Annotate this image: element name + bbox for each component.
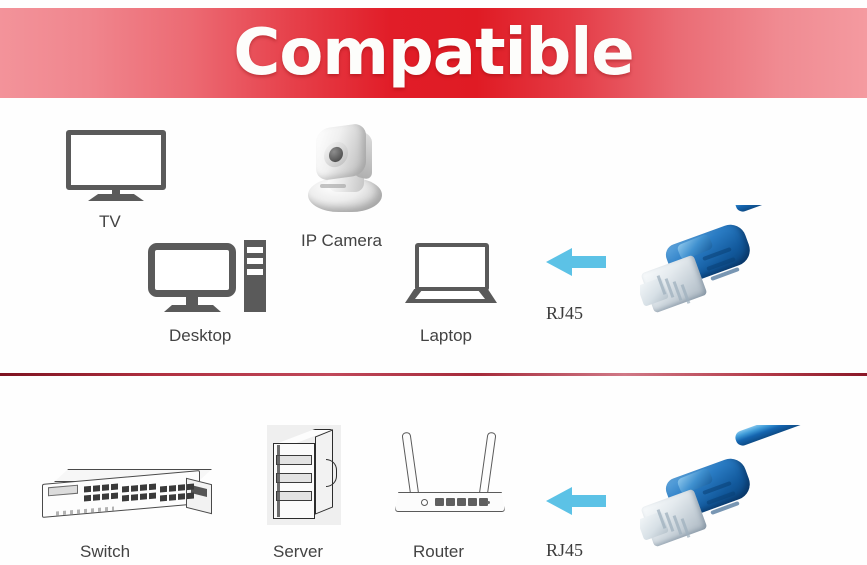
desktop-drive-bay bbox=[247, 258, 263, 264]
tv-screen bbox=[66, 130, 166, 190]
page-title: Compatible bbox=[0, 8, 867, 98]
rj45-cable-bottom bbox=[640, 425, 867, 565]
camera-base-slot bbox=[320, 184, 346, 188]
cable-wire bbox=[733, 205, 867, 214]
arrow-shaft bbox=[568, 495, 606, 507]
desktop-monitor bbox=[148, 243, 236, 297]
server-shelf bbox=[276, 473, 312, 483]
cable-wire bbox=[733, 425, 867, 448]
router-port bbox=[446, 498, 455, 506]
section-divider bbox=[0, 373, 867, 376]
switch-port-group bbox=[122, 484, 156, 503]
server-shelf bbox=[276, 455, 312, 465]
router-antenna-right bbox=[478, 432, 496, 499]
laptop-icon bbox=[409, 243, 497, 305]
tv-label: TV bbox=[99, 212, 121, 232]
desktop-stand-foot bbox=[164, 305, 221, 312]
server-rack-icon bbox=[267, 425, 341, 525]
router-antenna-left bbox=[401, 432, 419, 499]
header-banner: Compatible bbox=[0, 8, 867, 98]
server-label: Server bbox=[273, 542, 323, 562]
left-arrow-icon bbox=[546, 487, 606, 515]
laptop-screen bbox=[415, 243, 489, 291]
tv-stand-foot bbox=[88, 194, 144, 201]
wireless-router-icon bbox=[395, 430, 505, 522]
server-rail bbox=[277, 445, 280, 517]
rj45-label-bottom: RJ45 bbox=[546, 540, 583, 561]
ip-camera-icon bbox=[302, 122, 388, 214]
rj45-cable-top bbox=[640, 205, 867, 340]
desktop-drive-bay bbox=[247, 247, 263, 253]
router-port bbox=[435, 498, 444, 506]
router-indicator bbox=[487, 501, 490, 504]
router-label: Router bbox=[413, 542, 464, 562]
arrow-head bbox=[546, 487, 572, 515]
tv-icon bbox=[66, 130, 166, 200]
switch-label: Switch bbox=[80, 542, 130, 562]
laptop-label: Laptop bbox=[420, 326, 472, 346]
desktop-drive-bay bbox=[247, 269, 263, 275]
server-shelf bbox=[276, 491, 312, 501]
router-power-jack bbox=[421, 499, 428, 506]
switch-port-group bbox=[160, 484, 194, 503]
laptop-keyboard-area bbox=[415, 291, 485, 299]
desktop-label: Desktop bbox=[169, 326, 231, 346]
compatibility-diagram: Compatible TV Desktop IP Camera Laptop bbox=[0, 0, 867, 565]
rj45-label-top: RJ45 bbox=[546, 303, 583, 324]
desktop-computer-icon bbox=[148, 243, 266, 313]
ip-camera-label: IP Camera bbox=[301, 231, 382, 251]
network-switch-icon bbox=[36, 465, 216, 523]
arrow-shaft bbox=[568, 256, 606, 268]
router-port bbox=[457, 498, 466, 506]
arrow-head bbox=[546, 248, 572, 276]
desktop-stand-neck bbox=[186, 297, 198, 306]
switch-port-group bbox=[84, 484, 118, 503]
router-port bbox=[468, 498, 477, 506]
left-arrow-icon bbox=[546, 248, 606, 276]
